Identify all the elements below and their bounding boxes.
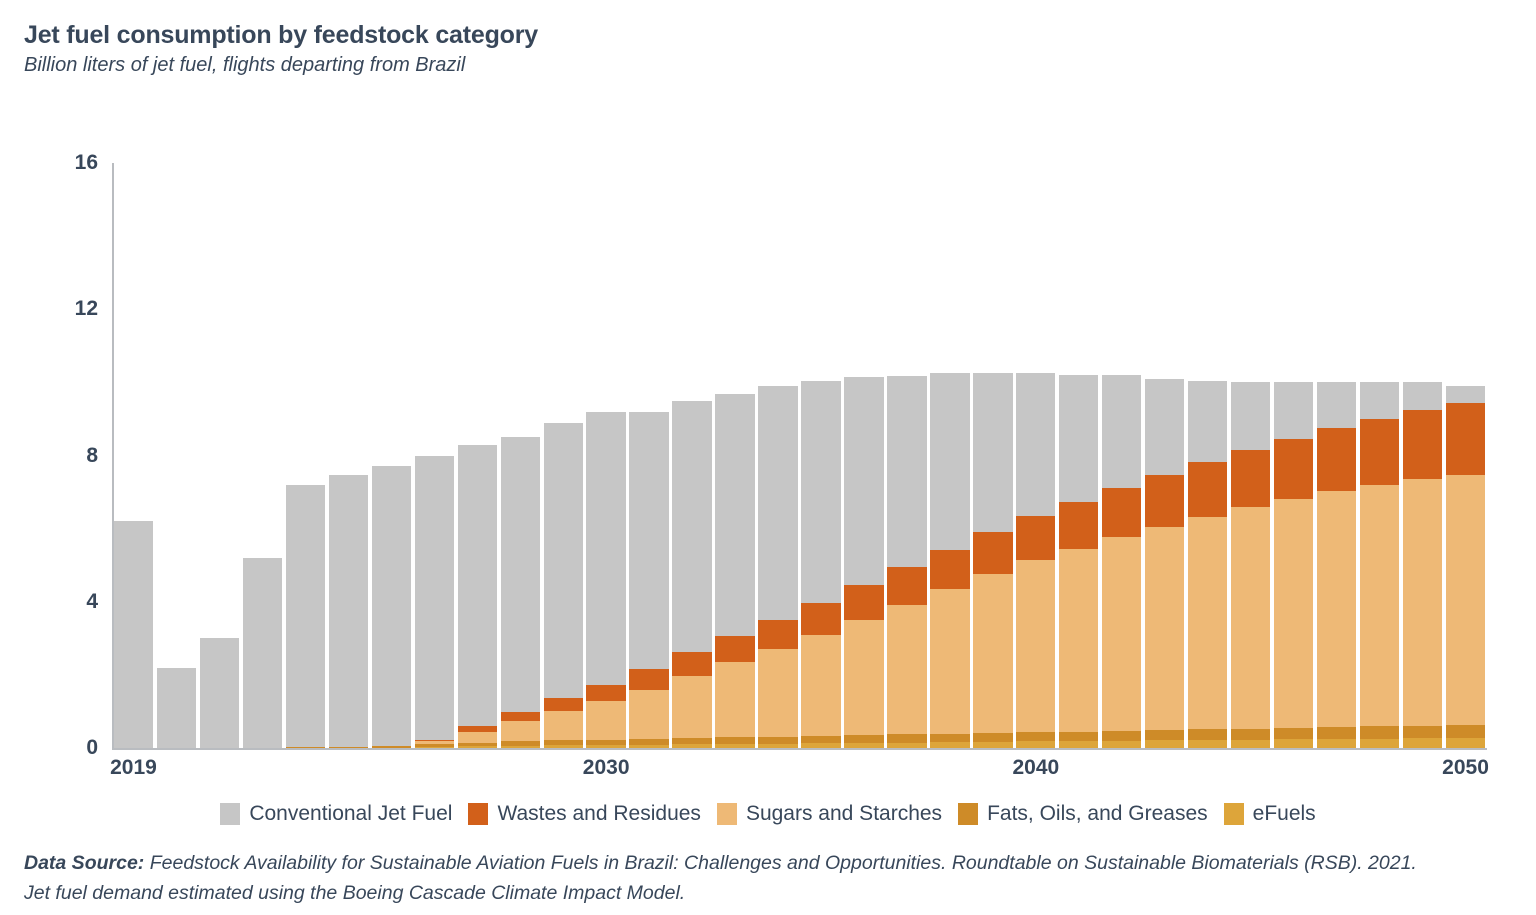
segment-wastes-and-residues: [1360, 419, 1399, 485]
segment-conventional-jet-fuel: [286, 485, 325, 748]
segment-conventional-jet-fuel: [1274, 382, 1313, 439]
bar-2019[interactable]: [114, 521, 153, 748]
segment-sugars-and-starches: [715, 662, 754, 737]
segment-wastes-and-residues: [1274, 439, 1313, 499]
segment-efuels: [672, 744, 711, 748]
x-tick-2050: 2050: [1426, 756, 1506, 780]
segment-fats-oils-and-greases: [1059, 732, 1098, 742]
segment-conventional-jet-fuel: [458, 445, 497, 727]
segment-sugars-and-starches: [1231, 507, 1270, 728]
segment-wastes-and-residues: [586, 685, 625, 701]
legend-label: Sugars and Starches: [746, 802, 942, 826]
segment-wastes-and-residues: [1317, 428, 1356, 491]
segment-sugars-and-starches: [672, 676, 711, 738]
chart-legend: Conventional Jet FuelWastes and Residues…: [0, 802, 1536, 826]
segment-conventional-jet-fuel: [887, 376, 926, 567]
segment-sugars-and-starches: [844, 620, 883, 735]
chart-subtitle: Billion liters of jet fuel, flights depa…: [24, 52, 538, 79]
segment-conventional-jet-fuel: [501, 437, 540, 712]
legend-swatch-icon: [958, 803, 978, 825]
segment-wastes-and-residues: [844, 585, 883, 620]
segment-conventional-jet-fuel: [243, 558, 282, 748]
legend-label: Conventional Jet Fuel: [249, 802, 452, 826]
legend-swatch-icon: [468, 803, 488, 825]
segment-sugars-and-starches: [1360, 485, 1399, 726]
segment-efuels: [1446, 738, 1485, 748]
bar-2041[interactable]: [1059, 375, 1098, 748]
segment-wastes-and-residues: [1016, 516, 1055, 561]
segment-fats-oils-and-greases: [1102, 731, 1141, 741]
bar-2050[interactable]: [1446, 386, 1485, 748]
legend-item-wastes-and-residues[interactable]: Wastes and Residues: [468, 802, 701, 826]
segment-fats-oils-and-greases: [1145, 730, 1184, 740]
x-tick-2040: 2040: [996, 756, 1076, 780]
bar-2025[interactable]: [372, 466, 411, 748]
data-source-text: Feedstock Availability for Sustainable A…: [24, 852, 1417, 904]
x-tick-2019: 2019: [93, 756, 173, 780]
segment-fats-oils-and-greases: [1274, 728, 1313, 739]
segment-fats-oils-and-greases: [973, 733, 1012, 742]
segment-efuels: [844, 743, 883, 748]
bar-2024[interactable]: [329, 475, 368, 748]
segment-sugars-and-starches: [1188, 517, 1227, 729]
bar-2044[interactable]: [1188, 381, 1227, 748]
segment-fats-oils-and-greases: [372, 746, 411, 748]
segment-sugars-and-starches: [1274, 499, 1313, 728]
x-tick-2030: 2030: [566, 756, 646, 780]
segment-efuels: [458, 746, 497, 748]
bar-2038[interactable]: [930, 373, 969, 748]
bar-2021[interactable]: [200, 638, 239, 748]
segment-fats-oils-and-greases: [1016, 732, 1055, 741]
segment-efuels: [501, 746, 540, 748]
segment-sugars-and-starches: [1446, 475, 1485, 725]
segment-wastes-and-residues: [1145, 475, 1184, 527]
bar-2023[interactable]: [286, 485, 325, 748]
segment-efuels: [1317, 739, 1356, 748]
bar-2034[interactable]: [758, 386, 797, 748]
segment-efuels: [973, 742, 1012, 748]
segment-efuels: [1360, 739, 1399, 749]
segment-conventional-jet-fuel: [544, 423, 583, 699]
segment-fats-oils-and-greases: [758, 737, 797, 744]
segment-conventional-jet-fuel: [715, 394, 754, 636]
segment-efuels: [544, 745, 583, 748]
segment-sugars-and-starches: [973, 574, 1012, 733]
y-tick-4: 4: [0, 590, 98, 614]
bar-2036[interactable]: [844, 377, 883, 748]
segment-fats-oils-and-greases: [1446, 725, 1485, 738]
segment-conventional-jet-fuel: [1145, 379, 1184, 476]
legend-label: Fats, Oils, and Greases: [987, 802, 1208, 826]
legend-label: Wastes and Residues: [497, 802, 701, 826]
bar-2035[interactable]: [801, 381, 840, 748]
segment-efuels: [586, 745, 625, 748]
bar-2030[interactable]: [586, 412, 625, 748]
y-tick-16: 16: [0, 151, 98, 175]
segment-wastes-and-residues: [930, 550, 969, 589]
segment-wastes-and-residues: [1102, 488, 1141, 537]
bar-2046[interactable]: [1274, 382, 1313, 748]
segment-efuels: [629, 745, 668, 748]
segment-conventional-jet-fuel: [1446, 386, 1485, 403]
segment-conventional-jet-fuel: [758, 386, 797, 620]
segment-conventional-jet-fuel: [1188, 381, 1227, 463]
segment-sugars-and-starches: [501, 721, 540, 741]
segment-sugars-and-starches: [544, 711, 583, 740]
segment-sugars-and-starches: [1102, 537, 1141, 731]
legend-swatch-icon: [220, 803, 240, 825]
segment-wastes-and-residues: [1188, 462, 1227, 517]
bar-2040[interactable]: [1016, 373, 1055, 748]
legend-item-efuels[interactable]: eFuels: [1224, 802, 1316, 826]
bar-2020[interactable]: [157, 668, 196, 748]
segment-wastes-and-residues: [672, 652, 711, 676]
segment-conventional-jet-fuel: [329, 475, 368, 746]
segment-conventional-jet-fuel: [1231, 382, 1270, 449]
bar-2042[interactable]: [1102, 375, 1141, 748]
segment-conventional-jet-fuel: [586, 412, 625, 685]
bar-2022[interactable]: [243, 558, 282, 748]
segment-efuels: [1274, 739, 1313, 748]
bar-2039[interactable]: [973, 373, 1012, 748]
y-tick-0: 0: [0, 736, 98, 760]
segment-conventional-jet-fuel: [801, 381, 840, 604]
bar-2048[interactable]: [1360, 382, 1399, 748]
bar-2049[interactable]: [1403, 382, 1442, 748]
segment-conventional-jet-fuel: [1317, 382, 1356, 428]
segment-efuels: [1403, 738, 1442, 748]
bar-2045[interactable]: [1231, 382, 1270, 748]
segment-fats-oils-and-greases: [887, 734, 926, 742]
segment-fats-oils-and-greases: [844, 735, 883, 743]
segment-efuels: [887, 743, 926, 748]
bar-2047[interactable]: [1317, 382, 1356, 748]
segment-sugars-and-starches: [758, 649, 797, 737]
segment-fats-oils-and-greases: [1188, 729, 1227, 740]
segment-conventional-jet-fuel: [1102, 375, 1141, 488]
segment-wastes-and-residues: [544, 698, 583, 711]
y-tick-8: 8: [0, 444, 98, 468]
segment-fats-oils-and-greases: [1317, 727, 1356, 739]
bar-2028[interactable]: [501, 437, 540, 748]
x-axis-line: [112, 748, 1487, 750]
segment-sugars-and-starches: [458, 732, 497, 743]
segment-sugars-and-starches: [801, 635, 840, 736]
chart-page: Jet fuel consumption by feedstock catego…: [0, 0, 1536, 915]
segment-conventional-jet-fuel: [1016, 373, 1055, 516]
segment-fats-oils-and-greases: [930, 734, 969, 742]
segment-sugars-and-starches: [1403, 479, 1442, 726]
segment-sugars-and-starches: [1145, 527, 1184, 730]
bar-2037[interactable]: [887, 376, 926, 748]
segment-conventional-jet-fuel: [1403, 382, 1442, 410]
segment-conventional-jet-fuel: [629, 412, 668, 670]
segment-efuels: [930, 742, 969, 748]
bar-2029[interactable]: [544, 423, 583, 748]
segment-conventional-jet-fuel: [114, 521, 153, 748]
segment-sugars-and-starches: [1317, 491, 1356, 727]
segment-fats-oils-and-greases: [1403, 726, 1442, 738]
segment-sugars-and-starches: [1016, 560, 1055, 732]
segment-wastes-and-residues: [715, 636, 754, 662]
segment-wastes-and-residues: [758, 620, 797, 649]
segment-conventional-jet-fuel: [672, 401, 711, 653]
segment-efuels: [1016, 741, 1055, 748]
legend-label: eFuels: [1253, 802, 1316, 826]
segment-sugars-and-starches: [586, 701, 625, 739]
segment-efuels: [1059, 741, 1098, 748]
segment-efuels: [801, 743, 840, 748]
segment-wastes-and-residues: [1403, 410, 1442, 479]
segment-efuels: [758, 744, 797, 748]
segment-fats-oils-and-greases: [801, 736, 840, 743]
bar-2033[interactable]: [715, 394, 754, 748]
segment-wastes-and-residues: [1446, 403, 1485, 474]
segment-sugars-and-starches: [930, 589, 969, 733]
bar-2031[interactable]: [629, 412, 668, 748]
segment-wastes-and-residues: [887, 567, 926, 604]
segment-conventional-jet-fuel: [930, 373, 969, 550]
segment-fats-oils-and-greases: [1231, 729, 1270, 740]
segment-efuels: [715, 744, 754, 748]
bar-2027[interactable]: [458, 445, 497, 748]
data-source-label: Data Source:: [24, 852, 144, 874]
legend-item-conventional-jet-fuel[interactable]: Conventional Jet Fuel: [220, 802, 452, 826]
segment-efuels: [1188, 740, 1227, 748]
segment-wastes-and-residues: [1231, 450, 1270, 508]
segment-conventional-jet-fuel: [415, 456, 454, 741]
segment-conventional-jet-fuel: [157, 668, 196, 748]
segment-conventional-jet-fuel: [844, 377, 883, 585]
segment-sugars-and-starches: [1059, 549, 1098, 732]
segment-efuels: [415, 747, 454, 748]
segment-sugars-and-starches: [629, 690, 668, 739]
segment-wastes-and-residues: [501, 712, 540, 721]
segment-efuels: [1145, 740, 1184, 748]
segment-fats-oils-and-greases: [715, 737, 754, 744]
bar-2032[interactable]: [672, 401, 711, 748]
segment-conventional-jet-fuel: [372, 466, 411, 745]
plot-area: [112, 163, 1487, 748]
segment-efuels: [1102, 741, 1141, 748]
segment-fats-oils-and-greases: [286, 747, 325, 748]
bar-2026[interactable]: [415, 456, 454, 749]
page-title: Jet fuel consumption by feedstock catego…: [24, 20, 538, 50]
legend-item-sugars-and-starches[interactable]: Sugars and Starches: [717, 802, 942, 826]
segment-efuels: [1231, 740, 1270, 748]
segment-conventional-jet-fuel: [973, 373, 1012, 532]
segment-wastes-and-residues: [973, 532, 1012, 574]
legend-swatch-icon: [1224, 803, 1244, 825]
segment-sugars-and-starches: [887, 605, 926, 735]
segment-wastes-and-residues: [629, 669, 668, 689]
segment-conventional-jet-fuel: [1360, 382, 1399, 419]
y-tick-12: 12: [0, 297, 98, 321]
chart-header: Jet fuel consumption by feedstock catego…: [24, 20, 538, 79]
segment-fats-oils-and-greases: [329, 747, 368, 748]
segment-conventional-jet-fuel: [200, 638, 239, 748]
legend-swatch-icon: [717, 803, 737, 825]
bar-2043[interactable]: [1145, 379, 1184, 748]
data-source-note: Data Source: Feedstock Availability for …: [24, 848, 1424, 908]
segment-wastes-and-residues: [1059, 502, 1098, 549]
segment-conventional-jet-fuel: [1059, 375, 1098, 502]
segment-wastes-and-residues: [801, 603, 840, 635]
legend-item-fats-oils-and-greases[interactable]: Fats, Oils, and Greases: [958, 802, 1208, 826]
segment-fats-oils-and-greases: [1360, 726, 1399, 738]
